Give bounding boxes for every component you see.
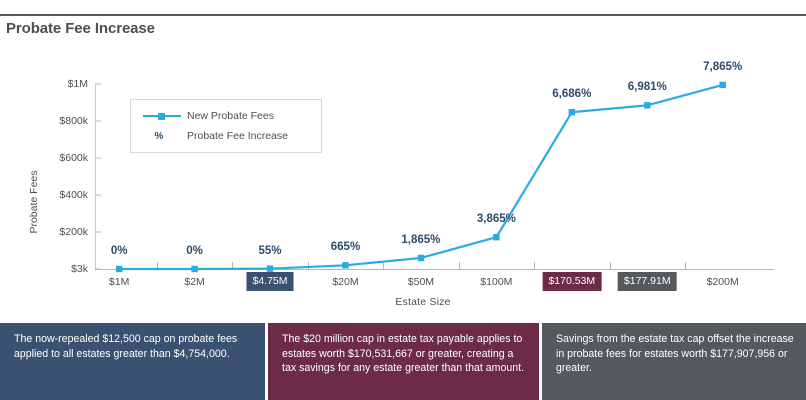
callout-cap-repealed: The now-repealed $12,500 cap on probate … <box>0 323 265 400</box>
header-rule <box>0 14 806 16</box>
data-point-marker <box>493 234 499 240</box>
legend-line-marker-icon <box>131 107 187 125</box>
data-point-marker <box>719 82 725 88</box>
series-plot <box>0 46 806 316</box>
data-point-label: 6,981% <box>628 81 667 93</box>
legend-label-0: New Probate Fees <box>187 110 274 122</box>
y-tick-mark <box>95 121 101 122</box>
callout-row: The now-repealed $12,500 cap on probate … <box>0 323 806 400</box>
data-point-label: 0% <box>111 245 128 257</box>
data-point-label: 55% <box>259 245 282 257</box>
data-point-marker <box>191 266 197 272</box>
data-point-marker <box>569 109 575 115</box>
y-tick-mark <box>95 232 101 233</box>
y-tick-mark <box>95 269 101 270</box>
callout-savings-offset: Savings from the estate tax cap offset t… <box>542 323 806 400</box>
percent-icon: % <box>131 127 187 145</box>
y-tick-mark <box>95 158 101 159</box>
data-point-marker <box>116 266 122 272</box>
data-point-label: 3,865% <box>477 213 516 225</box>
page-title: Probate Fee Increase <box>6 20 155 37</box>
chart-page: Probate Fee Increase Probate Fees $3k$20… <box>0 0 806 400</box>
data-point-label: 6,686% <box>552 88 591 100</box>
legend-key-0: % <box>155 131 164 142</box>
data-point-marker <box>342 262 348 268</box>
callout-estate-tax-cap: The $20 million cap in estate tax payabl… <box>268 323 539 400</box>
chart-area: Probate Fees $3k$200k$400k$600k$800k$1M … <box>0 46 806 316</box>
data-point-label: 0% <box>186 245 203 257</box>
data-point-label: 1,865% <box>401 234 440 246</box>
legend-item-new-probate-fees: New Probate Fees <box>131 107 321 125</box>
legend-item-probate-fee-increase: % Probate Fee Increase <box>131 127 321 145</box>
data-point-label: 665% <box>331 241 360 253</box>
data-point-label: 7,865% <box>703 61 742 73</box>
chart-legend: New Probate Fees % Probate Fee Increase <box>130 99 322 153</box>
data-point-marker <box>267 265 273 271</box>
legend-label-1: Probate Fee Increase <box>187 130 288 142</box>
data-point-marker <box>418 255 424 261</box>
y-tick-mark <box>95 84 101 85</box>
data-point-marker <box>644 102 650 108</box>
y-tick-mark <box>95 195 101 196</box>
